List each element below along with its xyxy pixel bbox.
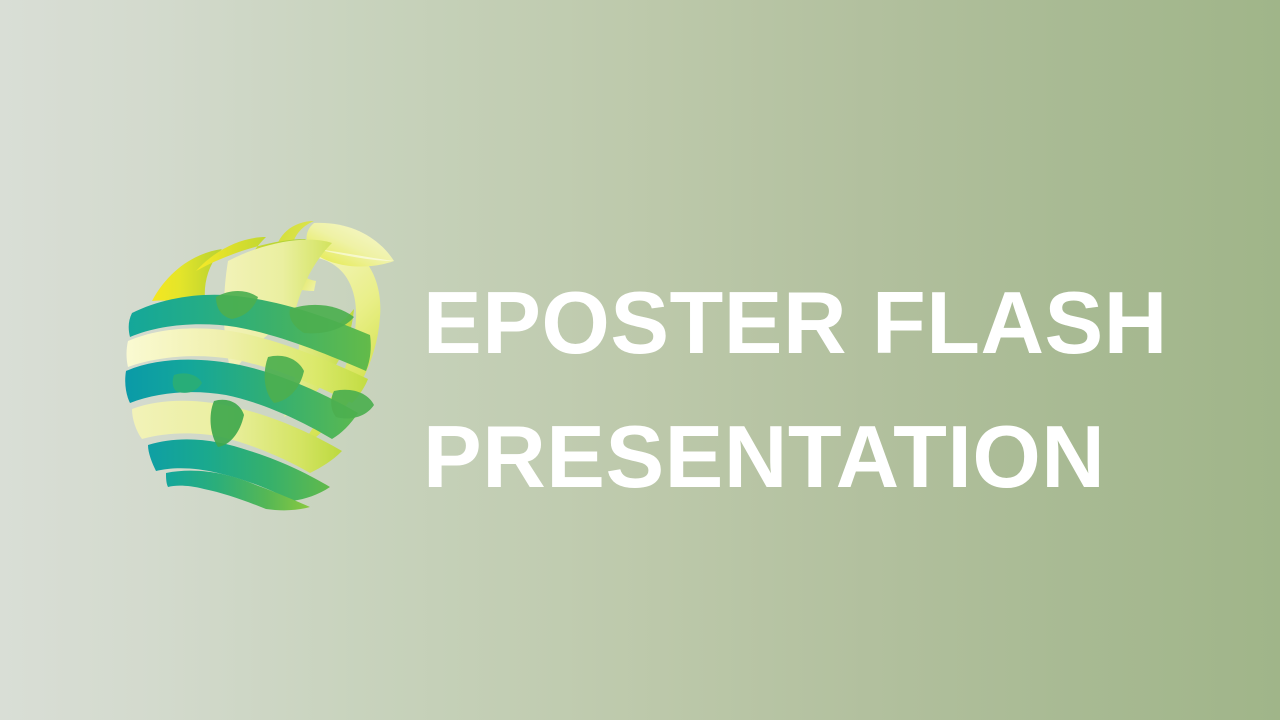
- page-title: EPOSTER FLASH PRESENTATION: [423, 256, 1213, 524]
- globe-ribbon-bands: [125, 221, 394, 510]
- continent-oceania: [331, 390, 374, 419]
- title-line-1: EPOSTER FLASH: [423, 256, 1213, 390]
- spiral-globe-leaf-logo: [118, 205, 403, 515]
- title-line-2: PRESENTATION: [423, 390, 1213, 524]
- slide-canvas: EPOSTER FLASH PRESENTATION: [0, 0, 1280, 720]
